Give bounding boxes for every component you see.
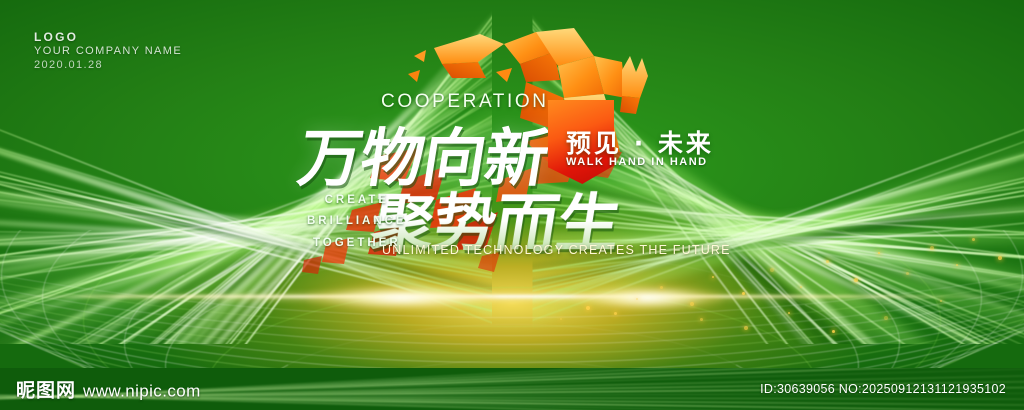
sparkle-dot [998, 256, 1002, 260]
poster-canvas: LOGO YOUR COMPANY NAME 2020.01.28 COOPER… [0, 0, 1024, 410]
watermark-id: ID:30639056 NO:20250912131121935102 [760, 382, 1006, 396]
ribbon-slogan-en: WALK HAND IN HAND [566, 156, 708, 168]
sparkle-dot [878, 252, 880, 254]
company-name: YOUR COMPANY NAME [34, 45, 182, 59]
headline-tagline: UNLIMITED TECHNOLOGY CREATES THE FUTURE [382, 243, 731, 257]
logo-text: LOGO [34, 30, 182, 45]
sun-burst-right [573, 285, 723, 311]
sparkle-dot [742, 292, 745, 295]
sparkle-dot [906, 272, 909, 275]
sparkle-dot [788, 312, 790, 314]
sparkle-dot [636, 298, 638, 300]
sparkle-dot [586, 306, 590, 310]
sparkle-dot [712, 276, 714, 278]
sparkle-dot [930, 246, 934, 250]
sparkle-dot [800, 286, 802, 288]
sparkle-dot [744, 326, 748, 330]
sparkle-dot [832, 330, 835, 333]
ribbon-slogan-cn: 预见 · 未来 [566, 124, 714, 160]
sparkle-dot [770, 268, 774, 272]
sparkle-dot [884, 316, 888, 320]
sparkle-dot [690, 302, 694, 306]
sparkle-dot [700, 318, 703, 321]
logo-date: 2020.01.28 [34, 59, 182, 73]
horizon-glow [82, 292, 942, 302]
sun-burst-left [307, 285, 497, 311]
sparkle-dot [826, 260, 829, 263]
watermark-brand: 昵图网 www.nipic.com [16, 376, 201, 403]
sparkle-dot [660, 286, 663, 289]
sparkle-dot [614, 312, 617, 315]
watermark-url: www.nipic.com [83, 382, 201, 402]
watermark-brand-cn: 昵图网 [16, 376, 76, 403]
sparkle-dot [560, 318, 562, 320]
side-slogan-line-2: BRILLIANCE [307, 211, 407, 232]
side-slogan-line-1: CREATE [307, 190, 407, 211]
sparkle-dot [940, 300, 942, 302]
footer-watermark-bar: 昵图网 www.nipic.com ID:30639056 NO:2025091… [0, 368, 1024, 410]
sparkle-dot [854, 278, 858, 282]
sparkle-dot [956, 264, 958, 266]
corner-logo-block: LOGO YOUR COMPANY NAME 2020.01.28 [34, 30, 182, 73]
sparkle-dot [972, 238, 975, 241]
